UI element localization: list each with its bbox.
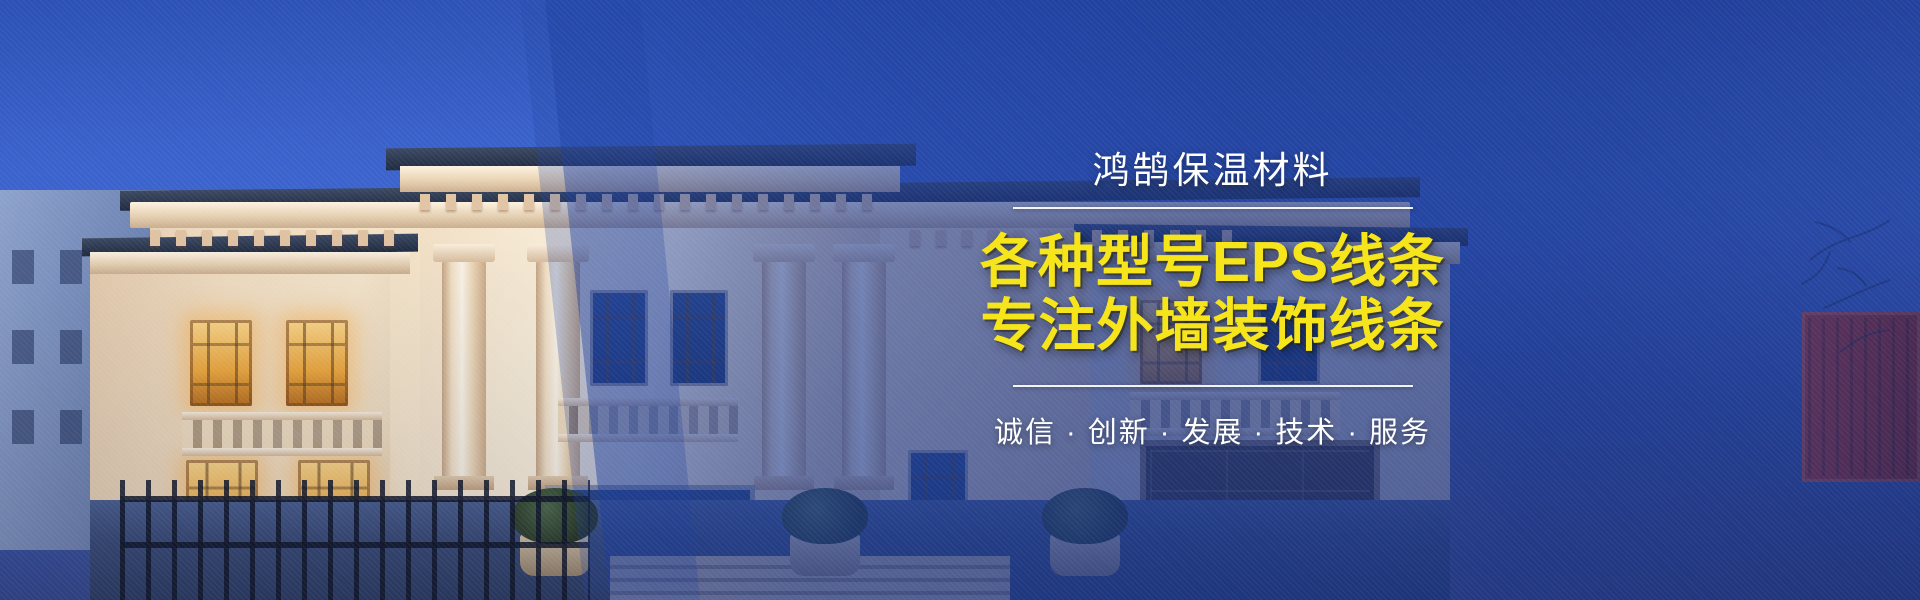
headline-line-2: 专注外墙装饰线条 <box>981 295 1445 359</box>
tagline: 诚信 · 创新 · 发展 · 技术 · 服务 <box>994 409 1431 451</box>
company-name: 鸿鹄保温材料 <box>1093 149 1333 193</box>
headline-line-1: 各种型号EPS线条 <box>980 231 1445 295</box>
divider-bottom <box>1013 385 1413 387</box>
divider-top <box>1013 207 1413 209</box>
hero-banner: 鸿鹄保温材料 各种型号EPS线条 专注外墙装饰线条 诚信 · 创新 · 发展 ·… <box>0 0 1920 600</box>
banner-copy-inner: 鸿鹄保温材料 各种型号EPS线条 专注外墙装饰线条 诚信 · 创新 · 发展 ·… <box>953 149 1473 451</box>
